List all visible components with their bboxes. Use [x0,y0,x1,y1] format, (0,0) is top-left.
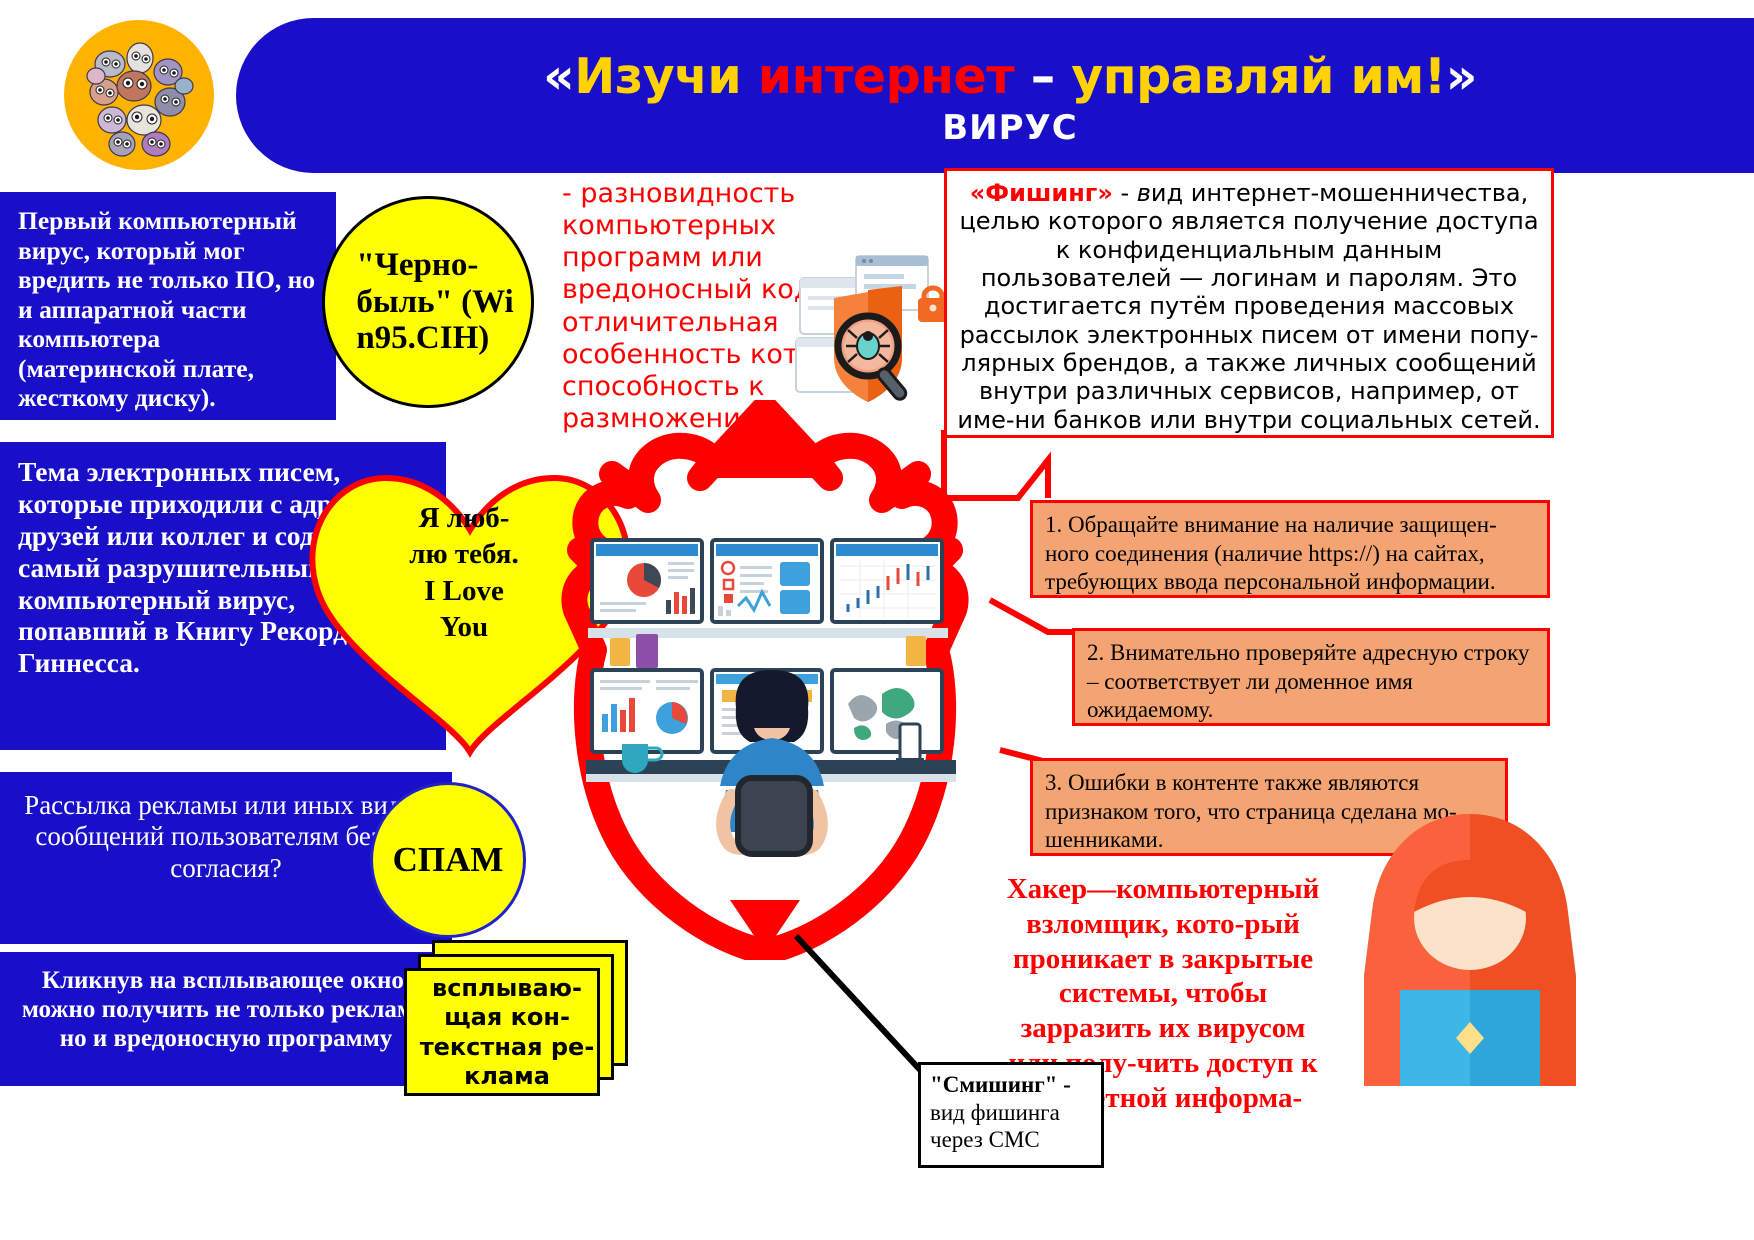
title-part-0: « [543,48,574,105]
title-part-5: » [1446,48,1477,105]
smishing-term: "Смишинг" - [930,1072,1071,1097]
phishing-term: «Фишинг» [970,179,1113,207]
viruses-cluster-icon [64,20,214,170]
smishing-line-3: через СМС [930,1126,1092,1154]
title-part-1: Изучи [574,48,757,105]
info-box-first-virus: Первый компьютерный вирус, который мог в… [0,192,336,420]
heart-line-2: лю тебя. [374,536,554,572]
pointer-line-icon [790,930,970,1080]
title-part-4: управляй им! [1071,48,1445,105]
smishing-definition-box: "Смишинг" - вид фишинга через СМС [918,1062,1104,1168]
hooded-hacker-illustration [1320,800,1620,1090]
smishing-line-1: "Смишинг" - [930,1071,1092,1099]
analyst-at-monitor-wall-illustration [586,528,956,858]
phishing-emphasis: в [1137,179,1151,207]
chernobyl-line-3: n95.CIH) [356,320,513,357]
title-part-3: – [1014,48,1071,105]
callout-heart-label: Я люб- лю тебя. I Love You [374,500,554,645]
page-title: «Изучи интернет – управляй им!» [300,48,1720,105]
viruses-cluster-logo [64,20,214,170]
heart-line-1: Я люб- [374,500,554,536]
info-box-popup-warning: Кликнув на всплывающее окно, можно получ… [0,952,452,1086]
page-subtitle: ВИРУС [300,108,1720,148]
tip-box-2: 2. Внимательно проверяйте адресную строк… [1072,628,1550,726]
poster-canvas: «Изучи интернет – управляй им!» ВИРУС Пе… [0,0,1754,1240]
callout-spam: СПАМ [370,782,526,938]
magnifier-bug-shield-icon [790,250,970,420]
smishing-pointer-line [790,930,970,1080]
callout-chernobyl-label: "Черно- быль" (Wi n95.CIH) [342,247,513,358]
popup-line-2: щая кон- [412,1003,602,1032]
popup-line-3: текстная ре- [412,1033,602,1062]
heart-line-4: You [374,609,554,645]
phishing-definition-box: «Фишинг» - вид интернет-мошенничества, ц… [944,168,1554,438]
hooded-hacker-icon [1320,800,1620,1090]
callout-popup-ad-label: всплываю- щая кон- текстная ре- клама [412,974,602,1091]
callout-spam-label: СПАМ [393,840,504,880]
chernobyl-line-2: быль" (Wi [356,284,513,321]
chernobyl-line-1: "Черно- [356,247,513,284]
popup-line-4: клама [412,1062,602,1091]
phishing-dash: - [1113,179,1137,207]
popup-line-1: всплываю- [412,974,602,1003]
callout-chernobyl: "Черно- быль" (Wi n95.CIH) [322,196,534,408]
heart-line-3: I Love [374,573,554,609]
phishing-body: ид интернет-мошенничества, целью которог… [957,179,1540,434]
security-scan-icon [790,250,970,420]
title-part-2: интернет [758,48,1014,105]
tip-box-1: 1. Обращайте внимание на наличие защищен… [1030,500,1550,598]
smishing-line-2: вид фишинга [930,1099,1092,1127]
